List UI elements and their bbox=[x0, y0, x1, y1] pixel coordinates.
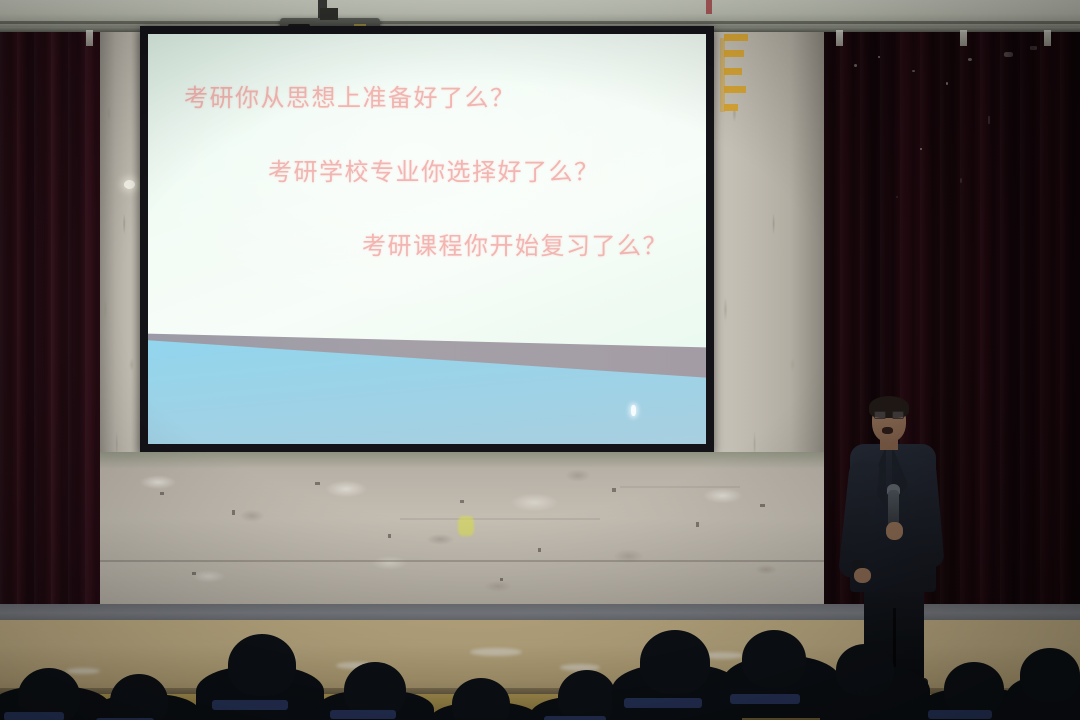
wall-yellow-stain bbox=[458, 516, 474, 536]
tape-mark bbox=[724, 86, 746, 93]
curtain-hook bbox=[836, 30, 843, 46]
projection-screen-frame: 考研你从思想上准备好了么？ 考研学校专业你选择好了么？ 考研课程你开始复习了么？ bbox=[140, 26, 714, 452]
projector-bracket bbox=[320, 8, 338, 20]
audience-head bbox=[836, 644, 894, 696]
wall-speck bbox=[232, 510, 235, 515]
glasses-lens-right bbox=[892, 411, 904, 419]
audience-head bbox=[110, 674, 168, 720]
audience-row bbox=[0, 626, 1080, 720]
audience-head bbox=[640, 630, 710, 694]
presenter-hand-left bbox=[854, 568, 871, 583]
slide-line-1: 考研你从思想上准备好了么？ bbox=[184, 78, 682, 113]
wall-speck bbox=[538, 548, 541, 552]
wall-speck bbox=[315, 482, 320, 485]
audience-head bbox=[742, 630, 806, 688]
ceiling-red-marker bbox=[706, 0, 712, 14]
tape-mark bbox=[720, 38, 725, 112]
tape-mark bbox=[724, 104, 738, 111]
wall-light-reflection bbox=[124, 180, 135, 189]
wall-texture bbox=[100, 452, 824, 620]
audience-head bbox=[228, 634, 296, 696]
slide-line-3: 考研课程你开始复习了么？ bbox=[362, 226, 682, 261]
tape-mark bbox=[724, 34, 748, 41]
projection-screen: 考研你从思想上准备好了么？ 考研学校专业你选择好了么？ 考研课程你开始复习了么？ bbox=[148, 34, 706, 444]
wall-seam bbox=[400, 518, 600, 520]
presenter-hand-right bbox=[886, 522, 903, 540]
wall-speck bbox=[388, 534, 391, 538]
slide-line-2: 考研学校专业你选择好了么？ bbox=[268, 152, 682, 187]
audience-head bbox=[944, 662, 1004, 716]
slide-text-block: 考研你从思想上准备好了么？ 考研学校专业你选择好了么？ 考研课程你开始复习了么？ bbox=[148, 34, 706, 444]
wall-seam bbox=[100, 560, 824, 562]
glasses-lens-left bbox=[874, 411, 886, 419]
auditorium-photo: 考研你从思想上准备好了么？ 考研学校专业你选择好了么？ 考研课程你开始复习了么？ bbox=[0, 0, 1080, 720]
ceiling-seam bbox=[0, 21, 1080, 24]
audience-collar bbox=[624, 698, 702, 708]
audience-collar bbox=[4, 712, 64, 720]
audience-head bbox=[452, 678, 510, 720]
audience-collar bbox=[730, 694, 800, 704]
audience-collar bbox=[928, 710, 992, 719]
wall-speck bbox=[460, 500, 464, 503]
audience-head bbox=[558, 670, 616, 720]
tape-mark bbox=[724, 68, 742, 75]
audience-collar bbox=[544, 716, 606, 720]
wall-seam bbox=[620, 486, 740, 488]
audience-collar bbox=[212, 700, 288, 710]
presenter-mouth bbox=[882, 427, 893, 434]
tape-mark bbox=[724, 50, 744, 57]
wall-speck bbox=[760, 504, 765, 507]
wall-speck bbox=[160, 492, 164, 495]
wall-speck bbox=[192, 572, 196, 575]
wall-speck bbox=[696, 522, 699, 527]
audience-collar bbox=[330, 710, 396, 719]
wall-speck bbox=[500, 578, 503, 581]
curtain-hook bbox=[86, 30, 93, 46]
curtain-hook bbox=[960, 30, 967, 46]
back-wall bbox=[100, 452, 824, 620]
wall-speck bbox=[612, 488, 616, 492]
curtain-hook bbox=[1044, 30, 1051, 46]
audience-head bbox=[1020, 648, 1080, 702]
